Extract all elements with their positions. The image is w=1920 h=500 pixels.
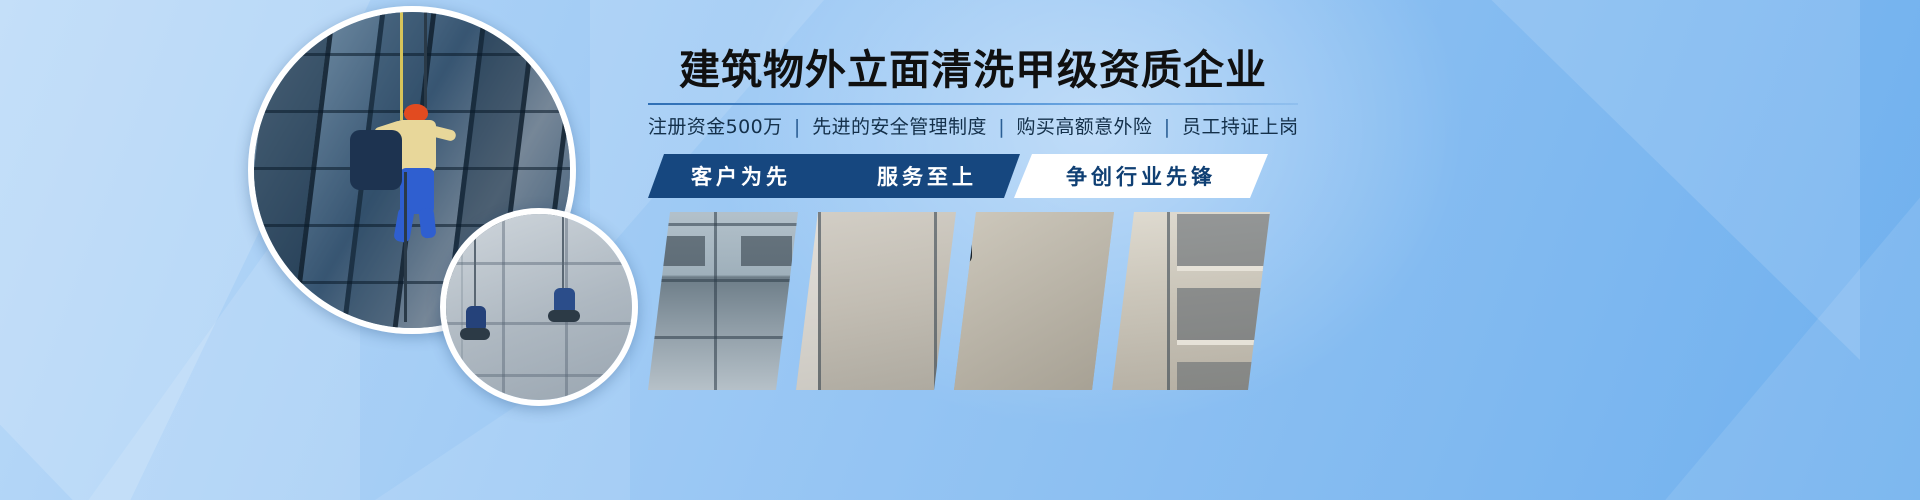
subtitle-part-1: 注册资金500万	[648, 116, 782, 138]
photo-panel-4-image	[1112, 212, 1270, 390]
banner-headline: 建筑物外立面清洗甲级资质企业	[648, 46, 1298, 94]
slogan-bar: 客户为先 服务至上 争创行业先锋	[648, 154, 1268, 198]
headline-divider	[648, 103, 1298, 105]
subtitle-separator-1: |	[789, 116, 806, 138]
photo-panel-1-image	[648, 212, 798, 390]
circle-photo-grey-facade	[440, 208, 638, 406]
slogan-group-highlight: 争创行业先锋	[1014, 154, 1268, 198]
deco-triangle-5	[1430, 0, 1860, 360]
banner-text-block: 建筑物外立面清洗甲级资质企业 注册资金500万 | 先进的安全管理制度 | 购买…	[648, 46, 1298, 198]
slogan-group-primary: 客户为先 服务至上	[648, 154, 1020, 198]
photo-panel-2	[796, 212, 956, 390]
promo-banner: 建筑物外立面清洗甲级资质企业 注册资金500万 | 先进的安全管理制度 | 购买…	[0, 0, 1920, 500]
photo-strip	[648, 212, 1268, 390]
slogan-service-supreme: 服务至上	[877, 161, 977, 191]
subtitle-part-3: 购买高额意外险	[1017, 116, 1153, 138]
photo-panel-1	[648, 212, 798, 390]
subtitle-separator-2: |	[993, 116, 1010, 138]
photo-panel-2-image	[796, 212, 956, 390]
photo-panel-4	[1112, 212, 1270, 390]
subtitle-separator-3: |	[1159, 116, 1176, 138]
slogan-industry-pioneer: 争创行业先锋	[1066, 161, 1216, 191]
banner-subtitle: 注册资金500万 | 先进的安全管理制度 | 购买高额意外险 | 员工持证上岗	[648, 114, 1298, 140]
slogan-customer-first: 客户为先	[691, 161, 791, 191]
photo-panel-3-image	[954, 212, 1114, 390]
grey-facade-image	[446, 214, 632, 400]
photo-panel-3	[954, 212, 1114, 390]
subtitle-part-2: 先进的安全管理制度	[812, 116, 987, 138]
subtitle-part-4: 员工持证上岗	[1182, 116, 1298, 138]
